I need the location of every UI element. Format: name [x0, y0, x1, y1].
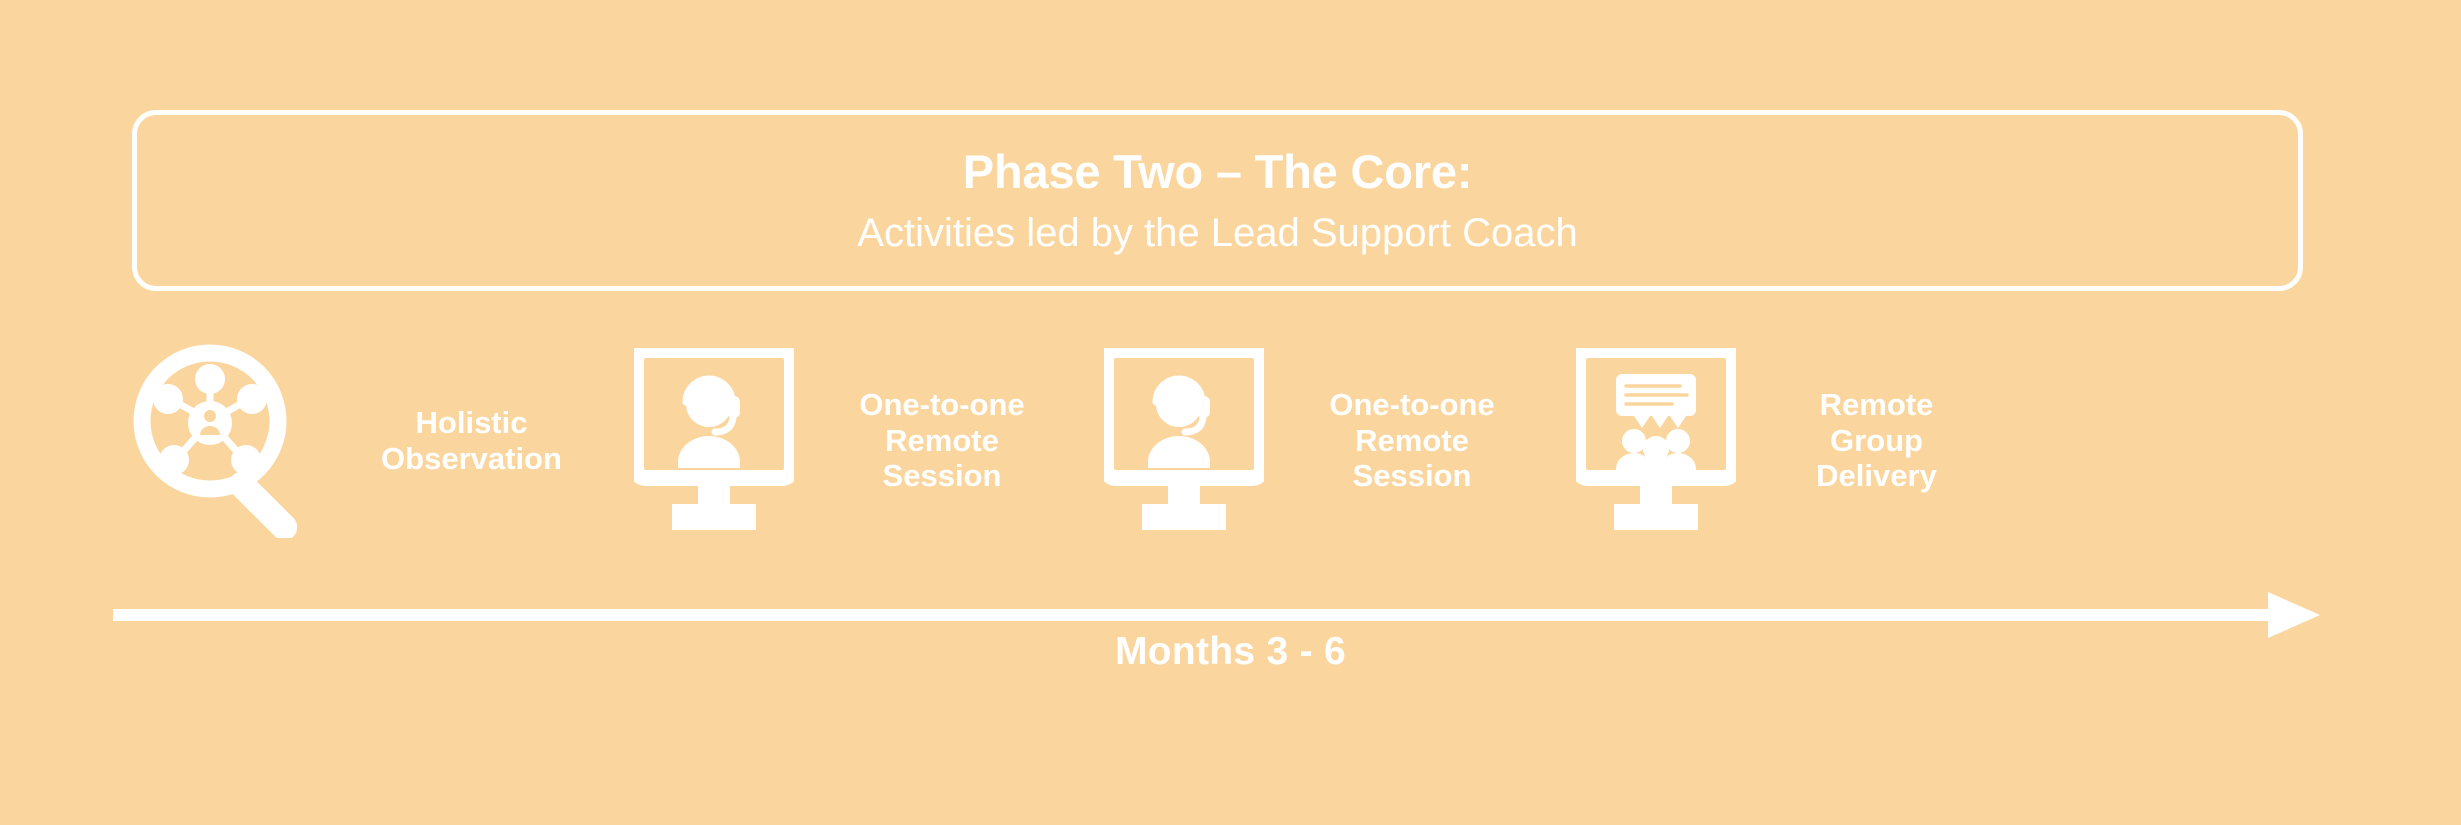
- timeline-step-remote-group-delivery: Remote Group Delivery: [1576, 318, 2011, 563]
- page-title: Phase Two – The Core:: [963, 145, 1472, 199]
- timeline-step-label: Remote Group Delivery: [1742, 387, 2011, 494]
- axis-caption: Months 3 - 6: [0, 630, 2461, 674]
- timeline-step-one-to-one-session-1: One-to-one Remote Session: [634, 318, 1084, 563]
- timeline-step-label: Holistic Observation: [327, 405, 616, 476]
- monitor-headset-person-icon: [1104, 348, 1264, 533]
- timeline-step-label: One-to-one Remote Session: [800, 387, 1084, 494]
- axis-line: [113, 609, 2268, 621]
- timeline-step-one-to-one-session-2: One-to-one Remote Session: [1104, 318, 1554, 563]
- monitor-group-chat-icon: [1576, 348, 1736, 533]
- timeline-step-holistic-observation: Holistic Observation: [132, 318, 616, 563]
- page-subtitle: Activities led by the Lead Support Coach: [857, 210, 1577, 256]
- monitor-headset-person-icon: [634, 348, 794, 533]
- phase-header-box: Phase Two – The Core: Activities led by …: [132, 110, 2303, 291]
- timeline-steps: Holistic Observation: [132, 318, 2312, 563]
- magnifier-network-icon: [132, 343, 317, 538]
- timeline-step-label: One-to-one Remote Session: [1270, 387, 1554, 494]
- slide-canvas: Phase Two – The Core: Activities led by …: [0, 0, 2461, 825]
